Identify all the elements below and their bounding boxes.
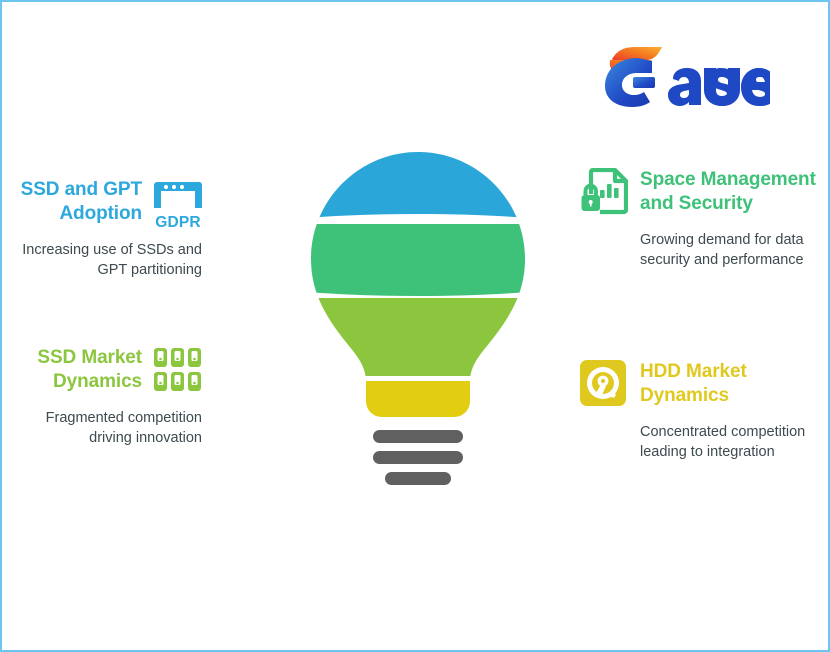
gdpr-browser-icon: GDPR: [154, 178, 202, 226]
block-header: HDD Market Dynamics: [580, 360, 830, 409]
block-space-management-and-security: Space Management and Security Growing de…: [580, 168, 830, 270]
hard-disk-icon: [580, 360, 628, 408]
block-header: SSD and GPT Adoption GDPR: [0, 178, 202, 227]
lightbulb-icon: [297, 146, 539, 506]
block-ssd-market-dynamics: SSD Market Dynamics: [0, 346, 202, 448]
block-title: SSD Market Dynamics: [0, 346, 142, 395]
bulb-band-blue: [297, 146, 539, 222]
block-description: Fragmented competition driving innovatio…: [0, 408, 202, 448]
block-header: Space Management and Security: [580, 168, 830, 217]
block-description: Growing demand for data security and per…: [580, 230, 830, 270]
drive-bays-icon: [154, 346, 202, 394]
bulb-band-olive: [297, 298, 539, 376]
block-description: Concentrated competition leading to inte…: [580, 422, 830, 462]
easeus-logo: [600, 46, 770, 108]
block-title: Space Management and Security: [640, 168, 830, 217]
document-chart-lock-icon: [580, 168, 628, 216]
block-hdd-market-dynamics: HDD Market Dynamics Concentrated competi…: [580, 360, 830, 462]
block-description: Increasing use of SSDs and GPT partition…: [0, 240, 202, 280]
block-title: HDD Market Dynamics: [640, 360, 830, 409]
gdpr-icon-label: GDPR: [155, 214, 201, 230]
infographic-canvas: SSD and GPT Adoption GDPR Increasing use…: [0, 0, 830, 652]
block-ssd-gpt-adoption: SSD and GPT Adoption GDPR Increasing use…: [0, 178, 202, 280]
bulb-base: [373, 430, 463, 485]
block-title: SSD and GPT Adoption: [0, 178, 142, 227]
block-header: SSD Market Dynamics: [0, 346, 202, 395]
bulb-band-green: [297, 224, 539, 296]
